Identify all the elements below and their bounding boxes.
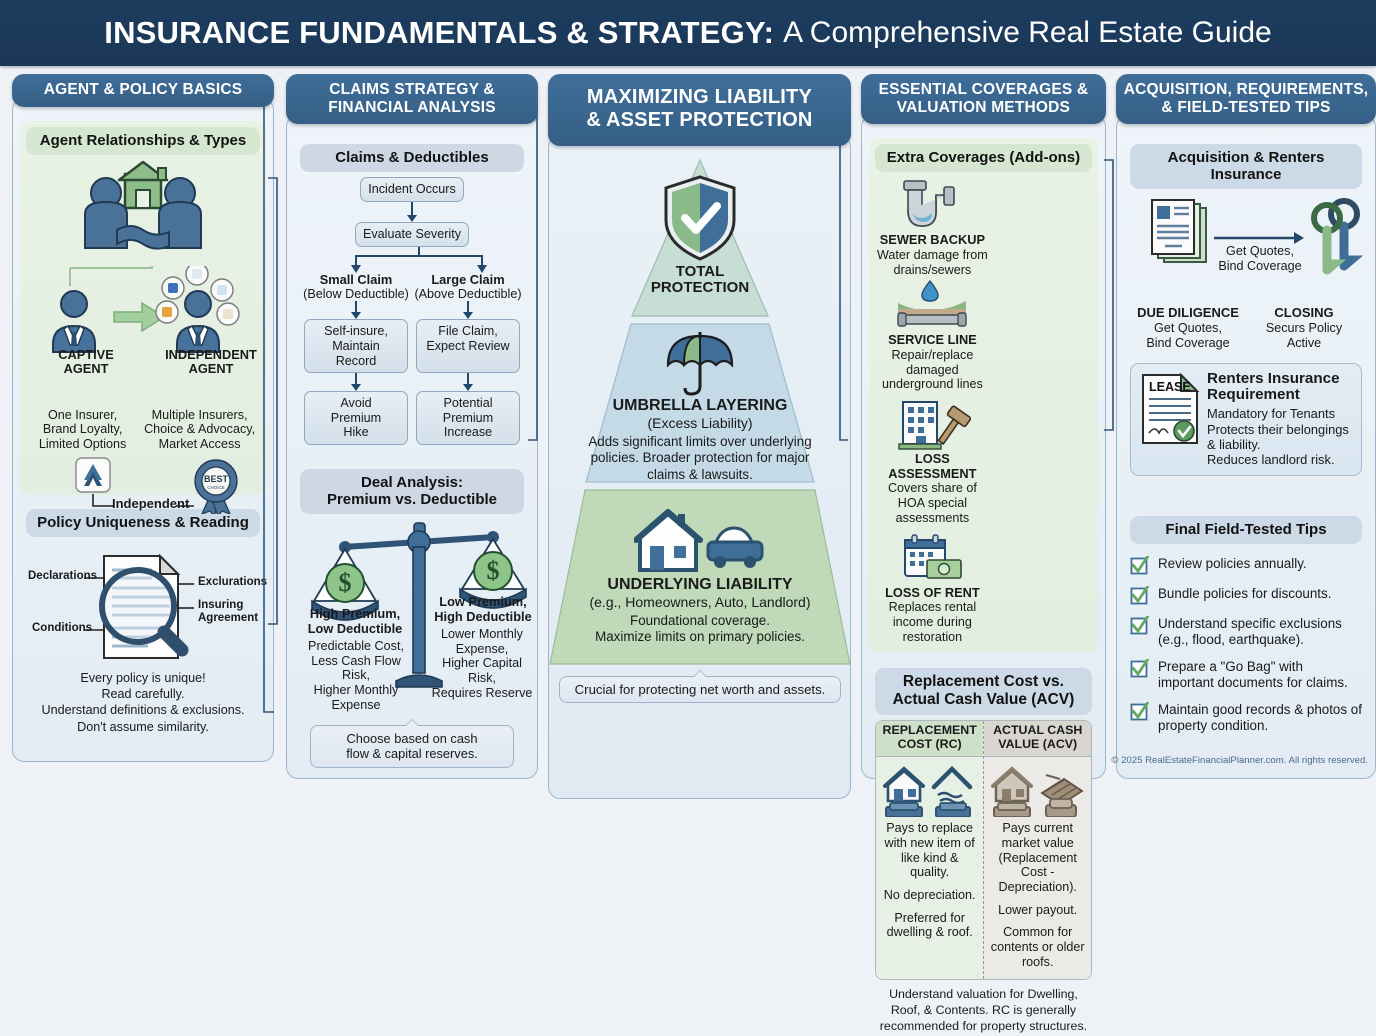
lease-document-icon: LEASE: [1139, 371, 1201, 447]
branch-large-claim: Large Claim (Above Deductible): [412, 273, 524, 302]
rc-column: REPLACEMENT COST (RC): [876, 721, 984, 978]
renters-line-2: Protects their belongings & liability.: [1207, 422, 1353, 453]
independent-badge-label: Independent: [112, 496, 178, 511]
col5-header-line1: ACQUISITION, REQUIREMENTS,: [1122, 81, 1370, 99]
rc-header: REPLACEMENT COST (RC): [876, 721, 984, 757]
col3-header-line1: MAXIMIZING LIABILITY: [554, 86, 845, 109]
rc-p1: Pays to replace with new item of like ki…: [876, 817, 984, 880]
arrow-down-icon: [461, 373, 475, 391]
checkbox-check-icon: [1130, 702, 1149, 721]
column-4: ESSENTIAL COVERAGES & VALUATION METHODS …: [861, 74, 1106, 779]
handshake-house-icon: [26, 160, 260, 264]
svg-text:LEASE: LEASE: [1149, 380, 1191, 394]
col4-valuation-note: Understand valuation for Dwelling, Roof,…: [875, 986, 1092, 1034]
col4-s2-title: Replacement Cost vs. Actual Cash Value (…: [875, 668, 1092, 715]
col2-s2-title-line1: Deal Analysis:: [304, 474, 520, 491]
col2-s2-title: Deal Analysis: Premium vs. Deductible: [300, 469, 524, 514]
col3-panel: TOTAL PROTECTION UMBRELLA LAYERING (Exce…: [548, 135, 851, 799]
column-5: ACQUISITION, REQUIREMENTS, & FIELD-TESTE…: [1116, 74, 1376, 779]
rc-p3: Preferred for dwelling & roof.: [876, 903, 984, 949]
independent-agent-name: INDEPENDENT AGENT: [148, 348, 274, 377]
captive-agent-name: CAPTIVE AGENT: [26, 348, 146, 377]
page-title-bold: INSURANCE FUNDAMENTALS & STRATEGY:: [104, 15, 774, 51]
coverage-desc: Repair/replacedamagedunderground lines: [875, 348, 990, 392]
arrow-down-icon: [349, 301, 363, 319]
coverage-item: SERVICE LINE Repair/replacedamagedunderg…: [875, 277, 990, 392]
tier-umbrella-desc: Adds significant limits over underlying …: [549, 431, 851, 484]
tip-text: Prepare a "Go Bag" with important docume…: [1158, 659, 1362, 691]
col2-s2-title-line2: Premium vs. Deductible: [304, 491, 520, 508]
coverage-name: LOSS OF RENT: [875, 586, 990, 601]
flow-step-evaluate[interactable]: Evaluate Severity: [355, 222, 469, 247]
low-premium-title: Low Premium,High Deductible: [428, 595, 538, 624]
col2-s1-title: Claims & Deductibles: [300, 144, 524, 172]
acv-column: ACTUAL CASH VALUE (ACV): [983, 721, 1091, 978]
col1-section-policy: Policy Uniqueness & Reading: [20, 503, 266, 743]
acv-header: ACTUAL CASH VALUE (ACV): [984, 721, 1091, 757]
checkbox-check-icon: [1130, 586, 1149, 605]
list-item: Review policies annually.: [1130, 556, 1362, 575]
low-premium-desc: Lower MonthlyExpense,Higher CapitalRisk,…: [426, 627, 538, 701]
checkbox-check-icon: [1130, 659, 1149, 678]
policy-label-insuring-agreement: InsuringAgreement: [198, 599, 258, 625]
col4-header-line1: ESSENTIAL COVERAGES &: [867, 81, 1100, 99]
acv-p3: Common for contents or older roofs.: [984, 917, 1091, 978]
worn-house-sofa-icons: [984, 757, 1091, 817]
renters-line-3: Reduces landlord risk.: [1207, 452, 1353, 467]
keys-icon: [1314, 201, 1357, 270]
column-2: CLAIMS STRATEGY & FINANCIAL ANALYSIS Cla…: [286, 74, 538, 779]
list-item: Bundle policies for discounts.: [1130, 586, 1362, 605]
renters-insurance-card: LEASE Renters Insurance: [1130, 363, 1362, 476]
coverage-desc: Water damage fromdrains/sewers: [875, 248, 990, 277]
col5-header-line2: & FIELD-TESTED TIPS: [1122, 99, 1370, 117]
col3-callout: Crucial for protecting net worth and ass…: [559, 676, 841, 704]
house-car-icon: [634, 504, 766, 574]
arrow-down-icon: [461, 301, 475, 319]
col2-section-claims: Claims & Deductibles Incident Occurs Eva…: [294, 138, 530, 453]
coverage-name: LOSS ASSESSMENT: [875, 452, 990, 481]
col4-header: ESSENTIAL COVERAGES & VALUATION METHODS: [861, 74, 1106, 124]
high-premium-desc: Predictable Cost,Less Cash Flow Risk,Hig…: [300, 639, 412, 713]
calendar-money-icon: [893, 534, 971, 586]
svg-text:CHOICE: CHOICE: [207, 485, 225, 490]
tip-text: Review policies annually.: [1158, 556, 1307, 572]
col2-header: CLAIMS STRATEGY & FINANCIAL ANALYSIS: [286, 74, 538, 124]
col2-callout: Choose based on cashflow & capital reser…: [310, 725, 514, 768]
svg-text:$: $: [339, 568, 352, 597]
col4-section-extra: Extra Coverages (Add-ons): [869, 138, 1098, 652]
tips-list: Review policies annually. Bundle policie…: [1130, 556, 1362, 734]
flow-step-incident[interactable]: Incident Occurs: [360, 177, 464, 202]
acv-p1: Pays current market value (Replacement C…: [984, 817, 1091, 895]
umbrella-icon: [662, 332, 738, 396]
coverage-desc: Covers share ofHOA specialassessments: [875, 481, 990, 525]
due-diligence-name: DUE DILIGENCE: [1130, 306, 1246, 321]
policy-label-declarations: Declarations: [28, 570, 97, 582]
col1-section-agents: Agent Relationships & Types: [20, 121, 266, 495]
flow-box-file-claim[interactable]: File Claim,Expect Review: [416, 319, 520, 373]
coverage-item: SEWER BACKUP Water damage fromdrains/sew…: [875, 177, 990, 277]
due-diligence-desc: Get Quotes,Bind Coverage: [1130, 321, 1246, 350]
coverage-desc: Replaces rentalincome duringrestoration: [875, 600, 990, 644]
col4-s2-title-line2: Actual Cash Value (ACV): [879, 691, 1088, 709]
col5-panel: Acquisition & Renters Insurance: [1116, 115, 1376, 779]
tip-text: Understand specific exclusions (e.g., fl…: [1158, 616, 1362, 648]
due-diligence-block: DUE DILIGENCE Get Quotes,Bind Coverage: [1130, 306, 1246, 350]
rc-acv-table: REPLACEMENT COST (RC): [875, 720, 1092, 979]
arrow-down-icon: [349, 373, 363, 391]
col2-header-line1: CLAIMS STRATEGY &: [292, 81, 532, 99]
columns-container: AGENT & POLICY BASICS Agent Relationship…: [0, 74, 1376, 746]
col4-section-valuation: Replacement Cost vs. Actual Cash Value (…: [869, 662, 1098, 1036]
closing-block: CLOSING Securs PolicyActive: [1246, 306, 1362, 350]
branch-small-claim: Small Claim (Below Deductible): [300, 273, 412, 302]
tier-umbrella-subtitle: (Excess Liability): [549, 415, 851, 431]
tier-underlying-text: UNDERLYING LIABILITY (e.g., Homeowners, …: [549, 576, 851, 647]
acquisition-arrow-label: Get Quotes,Bind Coverage: [1212, 244, 1308, 274]
list-item: Understand specific exclusions (e.g., fl…: [1130, 616, 1362, 648]
flow-box-premium-increase[interactable]: PotentialPremiumIncrease: [416, 391, 520, 445]
building-gavel-icon: [893, 400, 971, 452]
coverage-item: LOSS OF RENT Replaces rentalincome durin…: [875, 534, 990, 645]
col3-header: MAXIMIZING LIABILITY & ASSET PROTECTION: [548, 74, 851, 146]
copyright-footer: © 2025 RealEstateFinancialPlanner.com. A…: [1111, 755, 1368, 766]
independent-agent-desc: Multiple Insurers,Choice & Advocacy,Mark…: [139, 408, 260, 452]
tip-text: Maintain good records & photos of proper…: [1158, 702, 1362, 734]
documents-icon: [1152, 200, 1206, 262]
tier-umbrella-text: UMBRELLA LAYERING (Excess Liability) Add…: [549, 397, 851, 484]
policy-label-exclusions: Exclurations: [198, 576, 267, 588]
shield-check-icon: [661, 174, 739, 262]
arrow-down-icon: [404, 202, 420, 222]
high-premium-title: High Premium,Low Deductible: [300, 607, 410, 636]
col1-policy-note: Every policy is unique!Read carefully.Un…: [26, 670, 260, 735]
captive-agent-desc: One Insurer,Brand Loyalty,Limited Option…: [26, 408, 139, 452]
renters-title: Renters Insurance Requirement: [1207, 371, 1353, 404]
col4-s2-title-line1: Replacement Cost vs.: [879, 673, 1088, 691]
column-3: MAXIMIZING LIABILITY & ASSET PROTECTION: [548, 74, 851, 799]
coverage-item: LOSS ASSESSMENT Covers share ofHOA speci…: [875, 400, 990, 525]
tier-underlying-title: UNDERLYING LIABILITY: [549, 576, 851, 594]
col3-header-line2: & ASSET PROTECTION: [554, 109, 845, 132]
col5-section-tips: Final Field-Tested Tips Review policies …: [1124, 510, 1368, 753]
tier-total-protection-label: TOTAL PROTECTION: [549, 264, 851, 298]
tip-text: Bundle policies for discounts.: [1158, 586, 1331, 602]
col2-section-deal: Deal Analysis: Premium vs. Deductible: [294, 463, 530, 776]
col1-header: AGENT & POLICY BASICS: [12, 74, 274, 107]
tier-underlying-subtitle: (e.g., Homeowners, Auto, Landlord): [549, 594, 851, 610]
page-banner: INSURANCE FUNDAMENTALS & STRATEGY: A Com…: [0, 0, 1376, 66]
closing-name: CLOSING: [1246, 306, 1362, 321]
rc-p2: No depreciation.: [876, 880, 984, 903]
coverage-name: SERVICE LINE: [875, 333, 990, 348]
flow-branch-connector: [300, 247, 538, 273]
checkbox-check-icon: [1130, 556, 1149, 575]
renters-line-1: Mandatory for Tenants: [1207, 406, 1353, 421]
col5-s1-title: Acquisition & Renters Insurance: [1130, 144, 1362, 189]
closing-desc: Securs PolicyActive: [1246, 321, 1362, 350]
column-1: AGENT & POLICY BASICS Agent Relationship…: [12, 74, 274, 762]
svg-text:BEST: BEST: [204, 474, 229, 484]
flow-box-self-insure[interactable]: Self-insure,Maintain Record: [304, 319, 408, 373]
service-line-pipe-icon: [894, 277, 970, 333]
page-title-light: A Comprehensive Real Estate Guide: [783, 16, 1272, 50]
col4-header-line2: VALUATION METHODS: [867, 99, 1100, 117]
col1-panel: Agent Relationships & Types: [12, 98, 274, 762]
col4-panel: Extra Coverages (Add-ons): [861, 115, 1106, 779]
new-house-sofa-icons: [876, 757, 984, 817]
svg-text:$: $: [487, 556, 500, 585]
tier-umbrella-title: UMBRELLA LAYERING: [549, 397, 851, 415]
list-item: Maintain good records & photos of proper…: [1130, 702, 1362, 734]
sewer-pipe-icon: [896, 177, 968, 233]
flow-box-avoid-hike[interactable]: AvoidPremiumHike: [304, 391, 408, 445]
col4-s1-title: Extra Coverages (Add-ons): [875, 144, 1092, 172]
coverage-name: SEWER BACKUP: [875, 233, 990, 248]
policy-label-conditions: Conditions: [32, 622, 92, 634]
col5-header: ACQUISITION, REQUIREMENTS, & FIELD-TESTE…: [1116, 74, 1376, 124]
col2-panel: Claims & Deductibles Incident Occurs Eva…: [286, 115, 538, 779]
col2-header-line2: FINANCIAL ANALYSIS: [292, 99, 532, 117]
col5-section-acquisition: Acquisition & Renters Insurance: [1124, 138, 1368, 484]
checkbox-check-icon: [1130, 616, 1149, 635]
col1-s1-title: Agent Relationships & Types: [26, 127, 260, 155]
list-item: Prepare a "Go Bag" with important docume…: [1130, 659, 1362, 691]
acv-p2: Lower payout.: [984, 895, 1091, 918]
col5-s2-title: Final Field-Tested Tips: [1130, 516, 1362, 544]
tier-underlying-desc: Foundational coverage.Maximize limits on…: [549, 610, 851, 647]
